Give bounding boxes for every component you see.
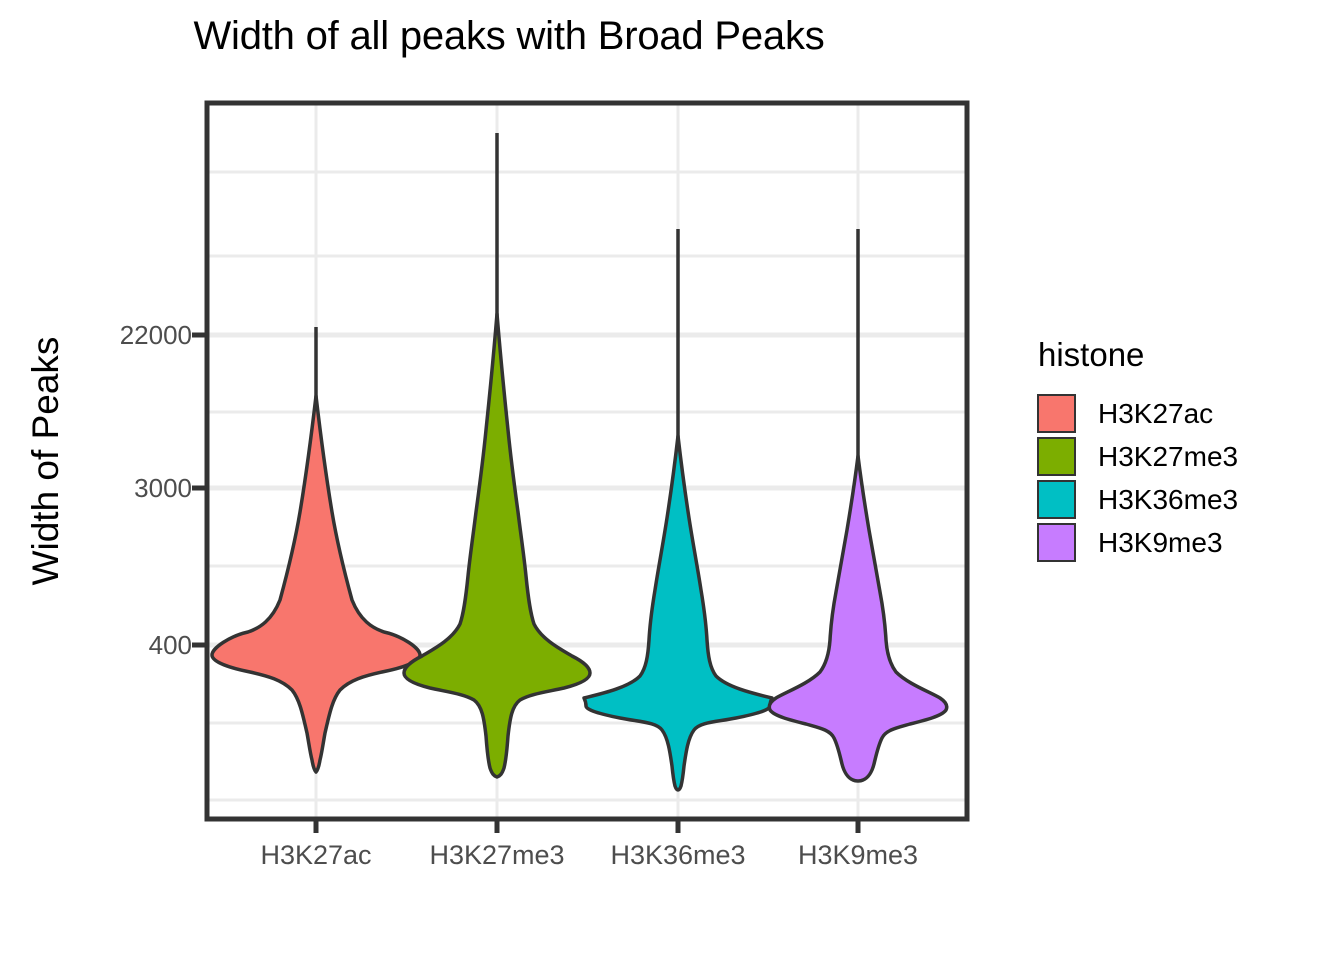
legend-item-h3k9me3[interactable]: H3K9me3: [1037, 521, 1337, 564]
chart-root: Width of all peaks with Broad Peaks Widt…: [0, 0, 1344, 960]
legend-swatch-h3k36me3: [1037, 480, 1076, 519]
legend-swatch-h3k27me3: [1037, 437, 1076, 476]
legend-label-h3k36me3: H3K36me3: [1098, 484, 1238, 516]
legend-label-h3k27me3: H3K27me3: [1098, 441, 1238, 473]
legend-item-h3k27ac[interactable]: H3K27ac: [1037, 392, 1337, 435]
legend: histone H3K27ac H3K27me3 H3K36me3 H3K9me…: [1037, 336, 1337, 564]
legend-label-h3k9me3: H3K9me3: [1098, 527, 1223, 559]
legend-title: histone: [1038, 336, 1337, 374]
legend-item-h3k27me3[interactable]: H3K27me3: [1037, 435, 1337, 478]
legend-label-h3k27ac: H3K27ac: [1098, 398, 1213, 430]
legend-item-h3k36me3[interactable]: H3K36me3: [1037, 478, 1337, 521]
legend-swatch-h3k27ac: [1037, 394, 1076, 433]
legend-swatch-h3k9me3: [1037, 523, 1076, 562]
